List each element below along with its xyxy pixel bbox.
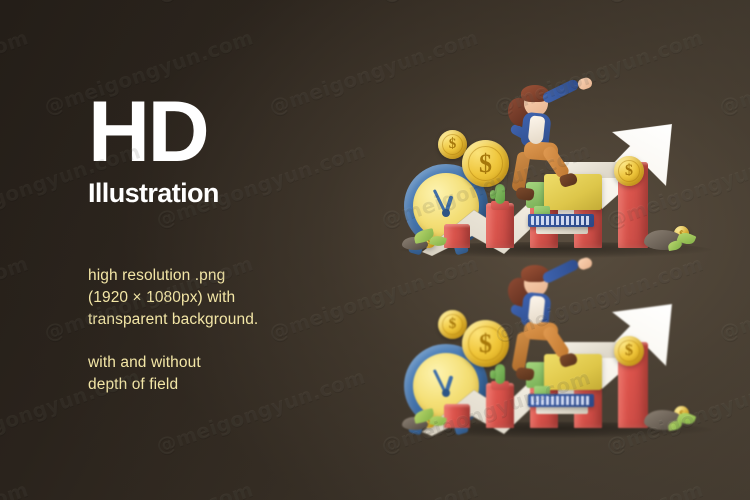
keyboard-keys [531, 216, 591, 225]
watermark-text: @meigongyun.com [0, 0, 143, 6]
keyboard-stand [536, 226, 588, 234]
character-pointing-hand [577, 76, 594, 91]
watermark-text: @meigongyun.com [0, 477, 31, 500]
businesswoman-character [494, 80, 606, 212]
description-line-2: (1920 × 1080px) with [88, 287, 258, 309]
page-subtitle: Illustration [88, 180, 219, 207]
watermark-text: @meigongyun.com [378, 0, 593, 6]
character-pointing-hand [577, 256, 594, 271]
illustration-scene: $ $ $ $ $ [386, 258, 726, 438]
headline-block: HD Illustration [88, 96, 219, 207]
coin-rim [618, 340, 640, 362]
illustration-scene: $ $ $ $ $ [386, 78, 726, 258]
watermark-text: @meigongyun.com [0, 25, 31, 119]
watermark-text: @meigongyun.com [716, 477, 750, 500]
watermark-text: @meigongyun.com [491, 477, 706, 500]
promo-banner: HD Illustration high resolution .png (19… [0, 0, 750, 500]
description-block: high resolution .png (1920 × 1080px) wit… [88, 265, 258, 396]
coin-right: $ [614, 336, 644, 366]
coin-rim [442, 314, 463, 335]
bar-chart-column-1 [444, 404, 470, 428]
bar-chart-column-1 [444, 224, 470, 248]
description-line-1: high resolution .png [88, 265, 258, 287]
illustration-without-depth-of-field: $ $ $ $ $ [386, 78, 726, 258]
description-spacer [88, 331, 258, 352]
watermark-text: @meigongyun.com [41, 477, 256, 500]
character-pointing-arm [541, 78, 580, 105]
note-line-1: with and without [88, 352, 258, 374]
businesswoman-character [494, 260, 606, 392]
watermark-text: @meigongyun.com [266, 477, 481, 500]
coin-rim [618, 160, 640, 182]
page-title: HD [88, 96, 219, 170]
note-line-2: depth of field [88, 374, 258, 396]
watermark-text: @meigongyun.com [0, 251, 31, 345]
keyboard-stand [536, 406, 588, 414]
keyboard-icon [528, 214, 594, 227]
description-line-3: transparent background. [88, 309, 258, 331]
keyboard-keys [531, 396, 591, 405]
coin-rim [442, 134, 463, 155]
character-back-boot [515, 367, 534, 381]
coin-right: $ [614, 156, 644, 186]
character-pointing-arm [541, 258, 580, 285]
character-back-boot [515, 187, 534, 201]
keyboard-icon [528, 394, 594, 407]
watermark-text: @meigongyun.com [603, 0, 750, 6]
illustration-with-depth-of-field: $ $ $ $ $ [386, 258, 726, 438]
watermark-text: @meigongyun.com [153, 0, 368, 6]
